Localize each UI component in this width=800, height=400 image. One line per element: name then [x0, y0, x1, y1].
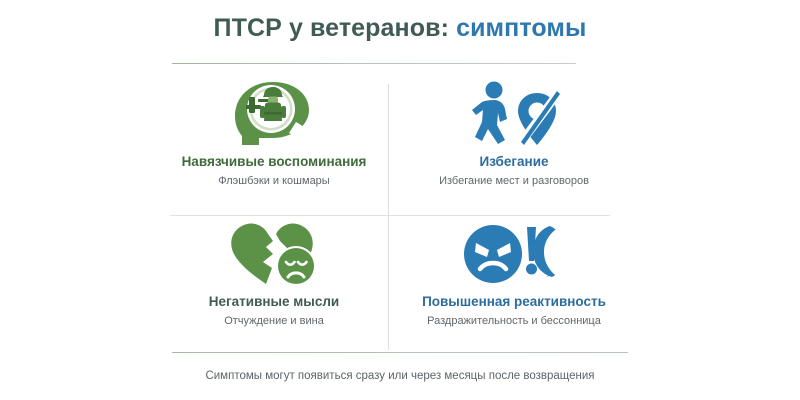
symptom-subtitle: Флэшбэки и кошмары [160, 175, 388, 188]
symptom-card-avoidance: Избегание Избегание мест и разговоров [400, 78, 628, 210]
infographic-slide: ПТСР у ветеранов: симптомы [0, 0, 800, 400]
symptom-title: Повышенная реактивность [400, 294, 628, 310]
title-divider [172, 63, 576, 64]
symptom-title: Избегание [400, 154, 628, 170]
page-title-accent: симптомы [456, 14, 586, 42]
symptom-card-negative-thoughts: Негативные мысли Отчуждение и вина [160, 218, 388, 350]
symptom-subtitle: Раздражительность и бессонница [400, 315, 628, 328]
symptom-title: Навязчивые воспоминания [160, 154, 388, 170]
symptom-card-hyperarousal: Повышенная реактивность Раздражительност… [400, 218, 628, 350]
symptom-subtitle: Отчуждение и вина [160, 315, 388, 328]
angry-face-exclamation-moon-icon [400, 218, 628, 290]
footer-note: Симптомы могут появиться сразу или через… [0, 370, 800, 382]
symptom-title: Негативные мысли [160, 294, 388, 310]
page-title: ПТСР у ветеранов: симптомы [0, 14, 800, 43]
symptom-card-intrusive-memories: Навязчивые воспоминания Флэшбэки и кошма… [160, 78, 388, 210]
page-title-main: ПТСР у ветеранов: [214, 14, 449, 42]
symptom-subtitle: Избегание мест и разговоров [400, 175, 628, 188]
footer-divider [172, 352, 628, 353]
symptom-grid: Навязчивые воспоминания Флэшбэки и кошма… [160, 78, 640, 350]
broken-heart-sad-face-icon [160, 218, 388, 290]
head-soldier-thought-icon [160, 78, 388, 150]
walking-person-no-location-icon [400, 78, 628, 150]
